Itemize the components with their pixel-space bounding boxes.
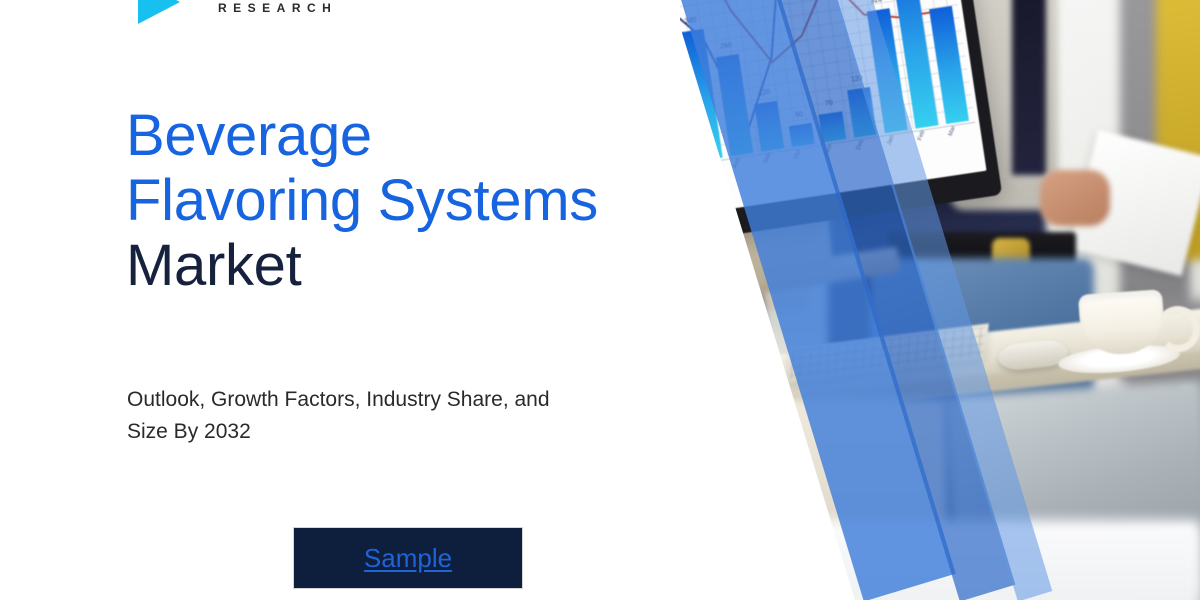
person-tie bbox=[1012, 0, 1046, 175]
subtitle: Outlook, Growth Factors, Industry Share,… bbox=[127, 384, 687, 447]
sample-button[interactable]: Sample bbox=[293, 527, 523, 589]
brand-wordmark: RESEARCH bbox=[218, 1, 337, 15]
brand-logo[interactable] bbox=[138, 0, 180, 22]
subtitle-line-2: Size By 2032 bbox=[127, 416, 687, 448]
title-line-1: Beverage bbox=[126, 104, 686, 169]
market-report-banner: 340 260 120 50 70 120 320 460 July Aug S… bbox=[0, 0, 1200, 600]
title-line-3: Market bbox=[126, 234, 686, 299]
triangle-play-icon bbox=[138, 0, 180, 22]
subtitle-line-1: Outlook, Growth Factors, Industry Share,… bbox=[127, 384, 687, 416]
page-title: Beverage Flavoring Systems Market bbox=[126, 104, 686, 299]
title-line-2: Flavoring Systems bbox=[126, 169, 686, 234]
sample-button-label: Sample bbox=[364, 543, 452, 574]
person-hand bbox=[1040, 170, 1110, 226]
